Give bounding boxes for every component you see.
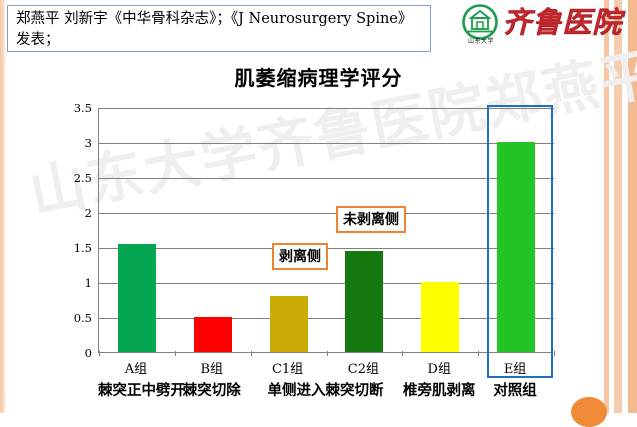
x-axis-category-C2组: C2组 bbox=[326, 358, 402, 377]
x-axis-sublabel-A组: 棘突正中劈开 bbox=[98, 379, 174, 400]
bar-D组 bbox=[421, 282, 459, 352]
orange-circle-decoration bbox=[571, 397, 607, 427]
gridline bbox=[99, 213, 554, 214]
y-axis-tick-label: 0 bbox=[52, 346, 92, 360]
x-axis-category-A组: A组 bbox=[98, 358, 174, 377]
x-axis-sublabel-E组: 对照组 bbox=[477, 379, 553, 400]
chart-title: 肌萎缩病理学评分 bbox=[0, 62, 637, 91]
x-axis-tick bbox=[554, 351, 555, 356]
y-axis-tick-label: 0.5 bbox=[52, 311, 92, 325]
y-axis-tick-label: 2.5 bbox=[52, 171, 92, 185]
x-axis-category-E组: E组 bbox=[477, 358, 553, 377]
x-axis-tick bbox=[99, 351, 100, 356]
x-axis-tick bbox=[175, 351, 176, 356]
callout-stripped-side: 剥离侧 bbox=[272, 243, 328, 270]
y-axis-tick-label: 1.5 bbox=[52, 241, 92, 255]
hospital-name-text: 齐鲁医院 bbox=[502, 1, 614, 43]
gridline bbox=[99, 178, 554, 179]
university-name-text: 山东大学 bbox=[462, 36, 500, 45]
bar-A组 bbox=[118, 244, 156, 353]
x-axis-category-D组: D组 bbox=[401, 358, 477, 377]
x-axis-category-C1组: C1组 bbox=[250, 358, 326, 377]
x-axis-tick bbox=[327, 351, 328, 356]
gridline bbox=[99, 143, 554, 144]
hospital-logo: 山东大学 齐鲁医院 bbox=[462, 2, 612, 50]
citation-text: 郑燕平 刘新宇《中华骨科杂志》；《J Neurosurgery Spine》发表… bbox=[16, 9, 424, 51]
x-axis-tick bbox=[478, 351, 479, 356]
bar-C2组 bbox=[345, 251, 383, 353]
plot-area bbox=[98, 108, 553, 353]
x-axis-tick bbox=[251, 351, 252, 356]
gridline bbox=[99, 318, 554, 319]
x-axis-tick bbox=[402, 351, 403, 356]
gridline bbox=[99, 108, 554, 109]
y-axis-tick-label: 1 bbox=[52, 276, 92, 290]
y-axis-tick-label: 3.5 bbox=[52, 101, 92, 115]
callout-unstripped-side: 未剥离侧 bbox=[336, 206, 406, 233]
x-axis-sublabel-C1组: 单侧进入棘突切断 bbox=[250, 379, 402, 400]
y-axis-tick-label: 2 bbox=[52, 206, 92, 220]
control-group-highlight-box bbox=[487, 105, 553, 378]
university-emblem-icon bbox=[462, 4, 498, 40]
bar-C1组 bbox=[270, 296, 308, 352]
citation-box: 郑燕平 刘新宇《中华骨科杂志》；《J Neurosurgery Spine》发表… bbox=[7, 5, 431, 52]
x-axis-category-B组: B组 bbox=[174, 358, 250, 377]
gridline bbox=[99, 283, 554, 284]
y-axis-tick-label: 3 bbox=[52, 136, 92, 150]
x-axis-sublabel-B组: 棘突切除 bbox=[174, 379, 250, 400]
y-axis-labels: 00.511.522.533.5 bbox=[50, 108, 94, 354]
x-axis-sublabel-D组: 椎旁肌剥离 bbox=[401, 379, 477, 400]
bar-B组 bbox=[194, 317, 232, 352]
